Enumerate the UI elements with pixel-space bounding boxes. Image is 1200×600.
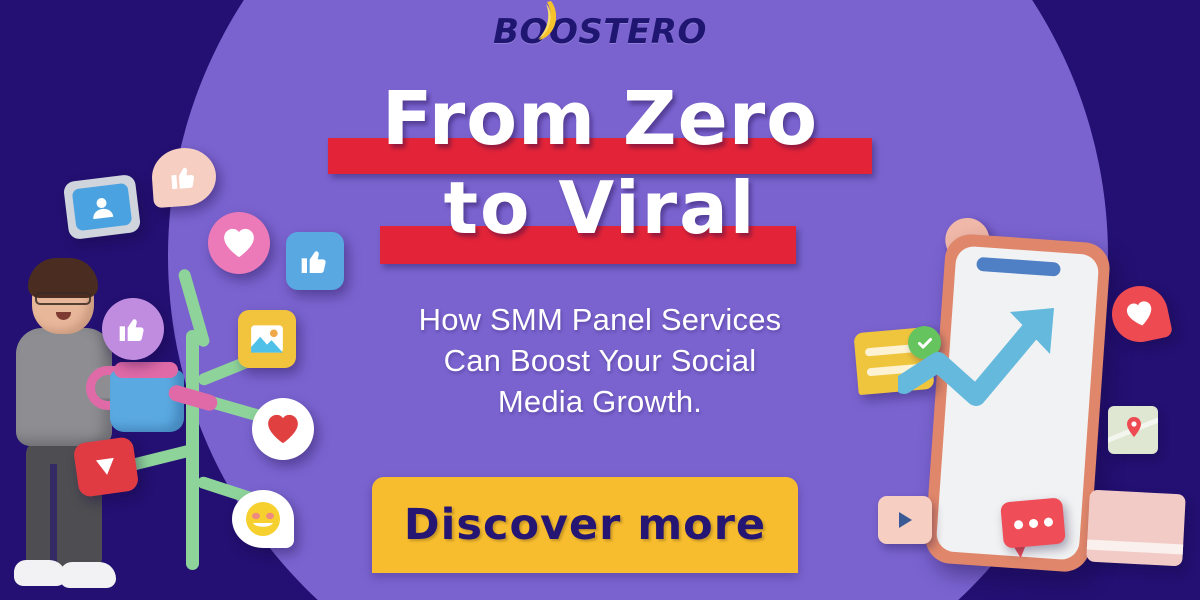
discover-more-label: Discover more (404, 500, 766, 550)
brand-logo-text: BOOSTERO (493, 12, 707, 52)
subheadline-line-2: Can Boost Your Social (300, 341, 900, 382)
headline-line-2-row: to Viral (0, 172, 1200, 268)
promo-banner: BOOSTERO From Zero to Viral How SMM Pane… (0, 0, 1200, 600)
headline-line-2: to Viral (444, 172, 757, 245)
brand-logo[interactable]: BOOSTERO (0, 12, 1200, 52)
character-leg-gap (50, 464, 57, 568)
discover-more-button[interactable]: Discover more (372, 477, 798, 573)
subheadline-line-3: Media Growth. (300, 382, 900, 423)
banana-swoosh-icon (534, 0, 556, 46)
subheadline: How SMM Panel Services Can Boost Your So… (300, 300, 900, 423)
headline-line-1: From Zero (382, 82, 818, 157)
glasses-icon (35, 292, 91, 305)
play-card-icon (878, 496, 932, 544)
character-shoe-left (14, 560, 66, 586)
headline-block: From Zero to Viral (0, 82, 1200, 268)
character-shoe-right (60, 562, 116, 588)
chat-bubble-icon (1000, 497, 1066, 548)
map-pin-card-icon (1108, 406, 1158, 454)
subheadline-line-1: How SMM Panel Services (300, 300, 900, 341)
media-card-icon (1086, 490, 1186, 567)
rising-growth-arrow (898, 300, 1124, 410)
smiley-bubble-icon (232, 490, 294, 548)
thumbs-up-circle-icon (102, 298, 164, 360)
photo-icon (238, 310, 296, 368)
play-button-icon (73, 436, 140, 498)
watering-can-lid (114, 362, 178, 378)
watering-can-icon (110, 370, 184, 432)
